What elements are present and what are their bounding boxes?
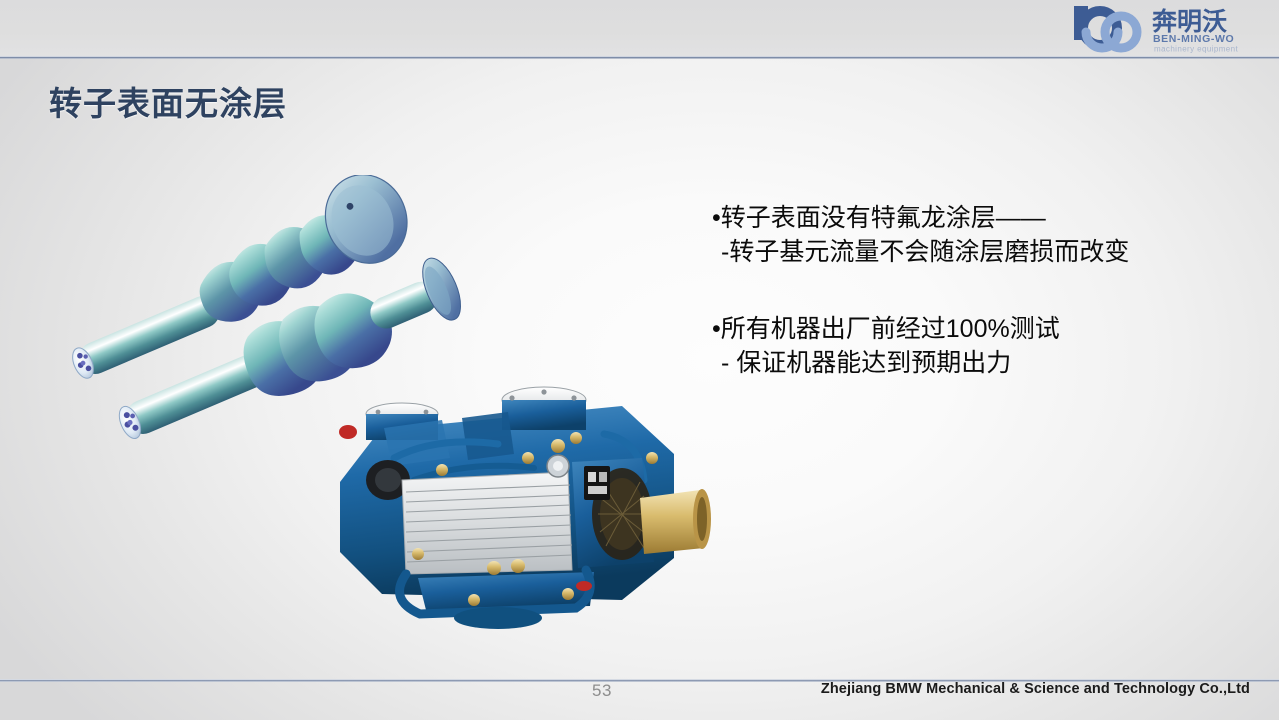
bullet-text: 转子表面没有特氟龙涂层—— [721, 204, 1046, 232]
svg-text:奔明沃: 奔明沃 [1152, 8, 1227, 36]
bullet-line-2: •所有机器出厂前经过100%测试 [712, 317, 1252, 342]
svg-text:BEN-MING-WO: BEN-MING-WO [1153, 33, 1234, 45]
header-divider-rule [0, 56, 1279, 59]
cooler-fins [402, 472, 572, 574]
slide-body-text: •转子表面没有特氟龙涂层—— -转子基元流量不会随涂层磨损而改变 •所有机器出厂… [712, 206, 1252, 376]
presentation-slide: 奔明沃 BEN-MING-WO machinery equipment 转子表面… [0, 0, 1279, 720]
bo-monogram-icon [1074, 6, 1137, 48]
blue-compressor-unit-image [322, 362, 722, 634]
footer-company-name: Zhejiang BMW Mechanical & Science and Te… [821, 681, 1250, 697]
company-logo: 奔明沃 BEN-MING-WO machinery equipment [1064, 2, 1269, 54]
logo-chinese-name: 奔明沃 [1152, 8, 1227, 36]
bullet-marker: • [712, 204, 721, 232]
sub-text: 转子基元流量不会随涂层磨损而改变 [729, 238, 1129, 266]
bullet-subline-1: -转子基元流量不会随涂层磨损而改变 [712, 240, 1252, 265]
page-title: 转子表面无涂层 [49, 77, 287, 125]
page-number: 53 [592, 681, 612, 701]
bullet-marker: • [712, 315, 721, 343]
sub-text: 保证机器能达到预期出力 [729, 349, 1011, 377]
paragraph-spacer [712, 265, 1252, 317]
brass-outlet [640, 489, 711, 554]
bullet-line-1: •转子表面没有特氟龙涂层—— [712, 206, 1252, 231]
svg-text:machinery equipment: machinery equipment [1154, 45, 1238, 54]
logo-romanized-name: BEN-MING-WO [1153, 33, 1234, 45]
bullet-subline-2: - 保证机器能达到预期出力 [712, 351, 1252, 376]
bullet-group-1: •转子表面没有特氟龙涂层—— -转子基元流量不会随涂层磨损而改变 [712, 206, 1252, 265]
logo-tagline: machinery equipment [1154, 45, 1238, 54]
bullet-text: 所有机器出厂前经过100%测试 [721, 315, 1060, 343]
bullet-group-2: •所有机器出厂前经过100%测试 - 保证机器能达到预期出力 [712, 317, 1252, 376]
